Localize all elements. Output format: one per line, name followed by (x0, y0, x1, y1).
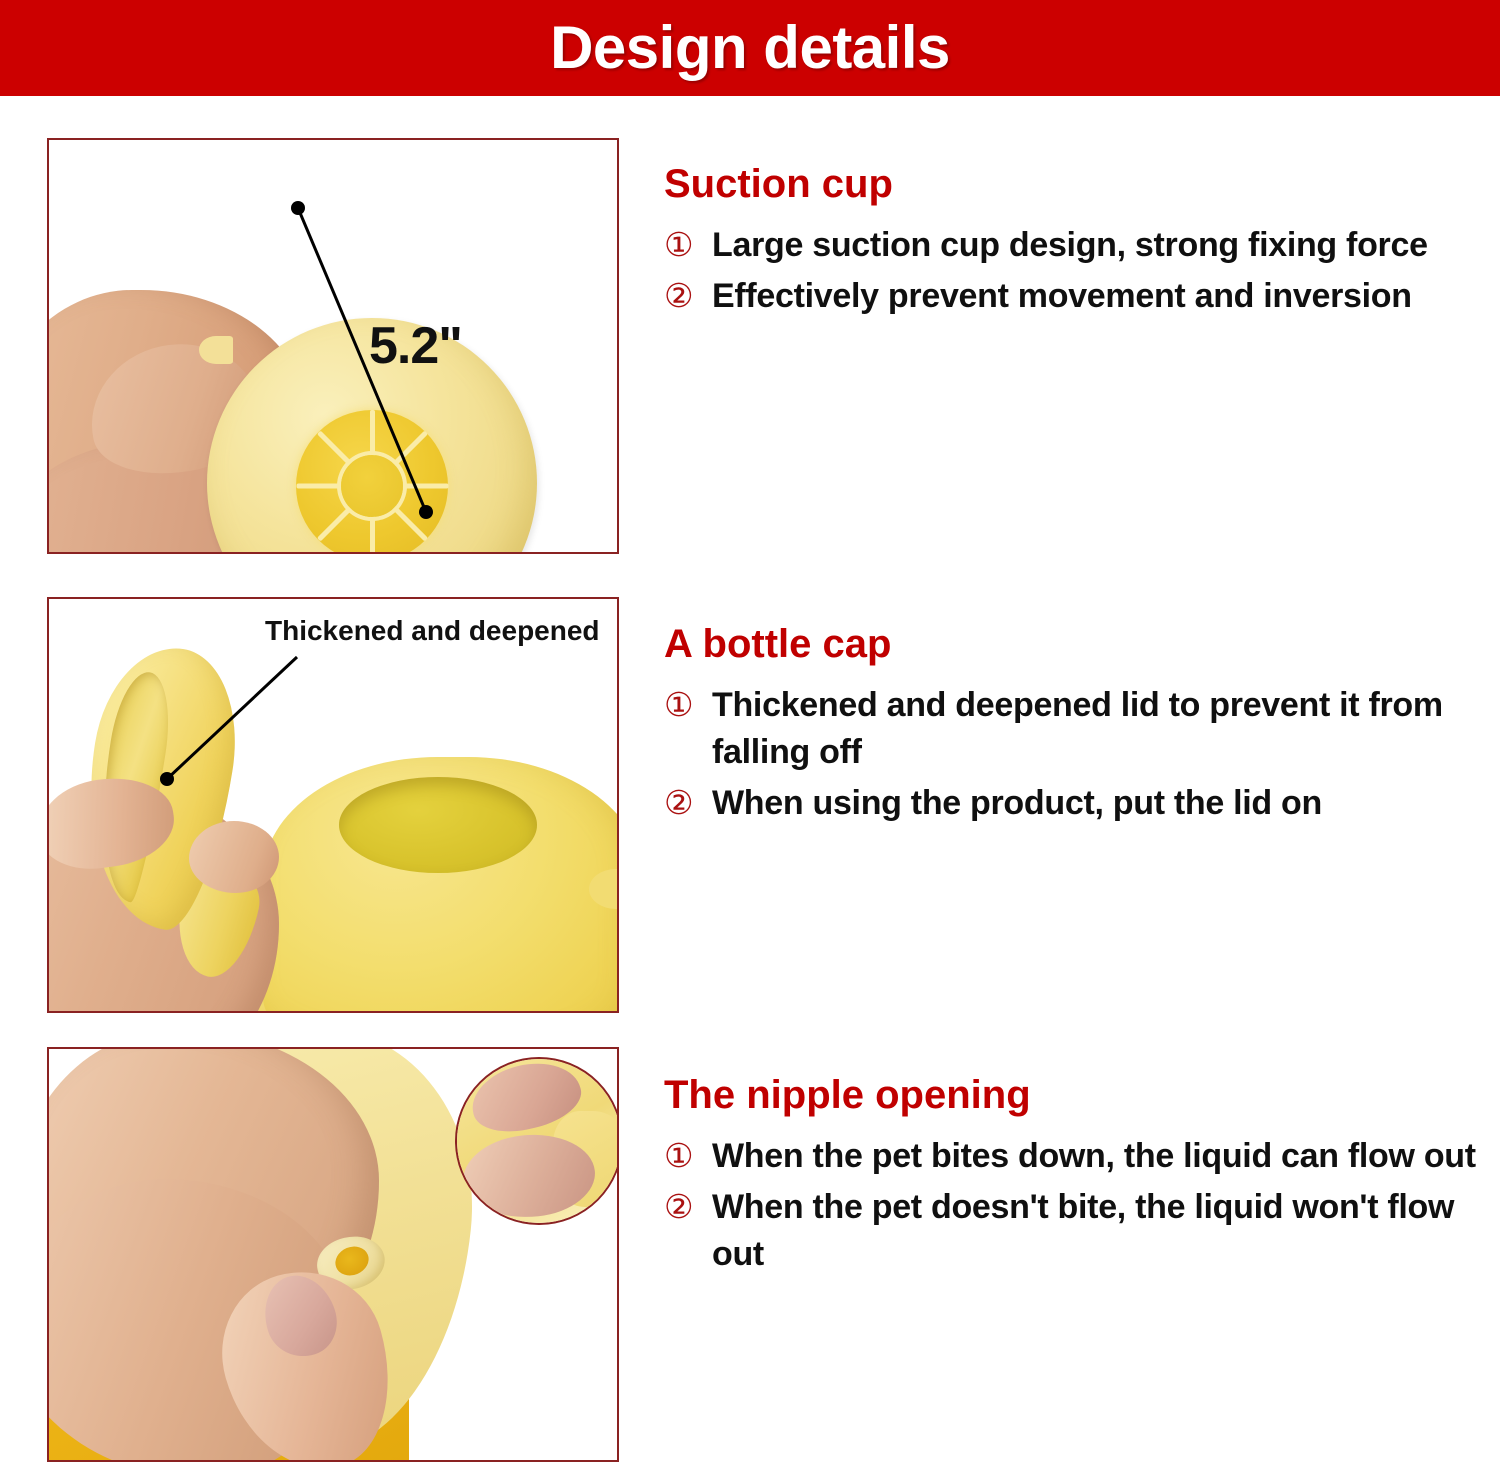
circled-number-2-icon: ② (664, 780, 712, 826)
bullet-item: ② When the pet doesn't bite, the liquid … (664, 1184, 1476, 1278)
header-banner: Design details (0, 0, 1500, 96)
bullet-text: Thickened and deepened lid to prevent it… (712, 682, 1476, 776)
text-block-bottle-cap: A bottle cap ① Thickened and deepened li… (664, 622, 1476, 831)
bullet-item: ① Large suction cup design, strong fixin… (664, 222, 1476, 269)
bullet-text: Effectively prevent movement and inversi… (712, 273, 1412, 320)
circled-number-1-icon: ① (664, 222, 712, 268)
photo-inset-closeup (455, 1057, 619, 1225)
bullet-item: ② Effectively prevent movement and inver… (664, 273, 1476, 320)
circled-number-1-icon: ① (664, 682, 712, 728)
bullet-text: When using the product, put the lid on (712, 780, 1322, 827)
measurement-label: 5.2" (369, 316, 462, 376)
suction-cup-tab (199, 336, 233, 364)
product-photo-suction-cup: 5.2" (49, 140, 617, 552)
bullet-text: When the pet bites down, the liquid can … (712, 1133, 1476, 1180)
circled-number-2-icon: ② (664, 1184, 712, 1230)
circled-number-2-icon: ② (664, 273, 712, 319)
bullet-item: ① When the pet bites down, the liquid ca… (664, 1133, 1476, 1180)
bullet-text: Large suction cup design, strong fixing … (712, 222, 1428, 269)
finger-shape-lower (189, 821, 279, 893)
bullet-text: When the pet doesn't bite, the liquid wo… (712, 1184, 1476, 1278)
product-photo-bottle-cap: Thickened and deepened (49, 599, 617, 1011)
photo-panel-bottle-cap: Thickened and deepened (47, 597, 619, 1013)
page-title: Design details (550, 18, 950, 78)
photo-callout-label: Thickened and deepened (265, 615, 600, 647)
circled-number-1-icon: ① (664, 1133, 712, 1179)
suction-cup-hub (296, 410, 448, 554)
section-heading: The nipple opening (664, 1073, 1476, 1117)
suction-cup-hub-center (341, 455, 403, 517)
product-photo-nipple-opening (49, 1049, 617, 1460)
bullet-item: ① Thickened and deepened lid to prevent … (664, 682, 1476, 776)
photo-panel-suction-cup: 5.2" (47, 138, 619, 554)
photo-panel-nipple-opening (47, 1047, 619, 1462)
text-block-suction-cup: Suction cup ① Large suction cup design, … (664, 162, 1476, 324)
text-block-nipple-opening: The nipple opening ① When the pet bites … (664, 1073, 1476, 1282)
section-heading: A bottle cap (664, 622, 1476, 666)
section-heading: Suction cup (664, 162, 1476, 206)
bullet-item: ② When using the product, put the lid on (664, 780, 1476, 827)
bottle-mouth-opening (339, 777, 537, 873)
